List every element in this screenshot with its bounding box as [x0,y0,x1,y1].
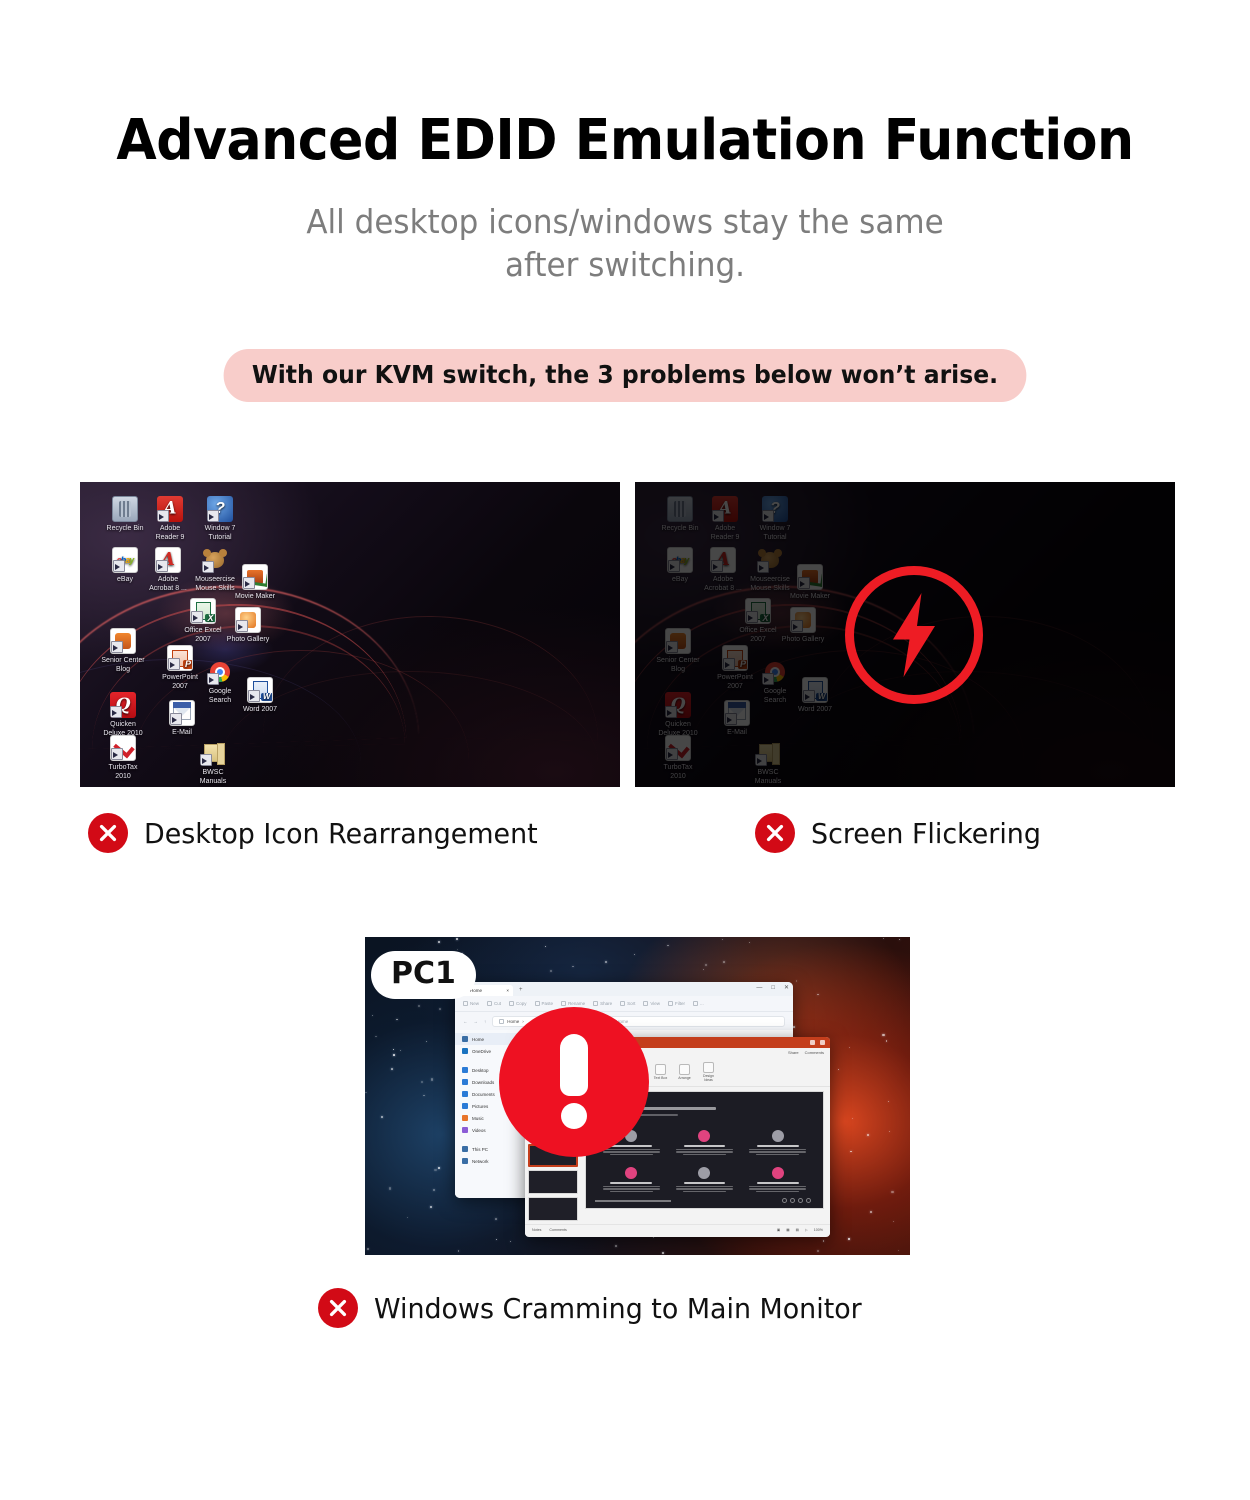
caption-screen-flickering: Screen Flickering [755,813,1050,853]
sidebar-item-label: Network [472,1159,489,1164]
star [550,970,552,972]
up-icon[interactable]: ↑ [484,1019,486,1024]
star [852,1118,853,1119]
banner-container: With our KVM switch, the 3 problems belo… [0,349,1250,402]
page-subtitle-line2: after switching. [38,243,1213,286]
star [796,980,797,981]
toolbar-label: Sort [627,1001,635,1006]
star [899,939,900,940]
slide-thumbnail[interactable] [528,1170,578,1194]
sidebar-item-label: Downloads [472,1080,494,1085]
folder-icon [462,1079,468,1085]
star [615,1245,617,1247]
pc1-badge: PC1 [371,951,476,999]
caption-desktop-icon-rearrangement: Desktop Icon Rearrangement [88,813,554,853]
status-right-group: ▣ ▦ ▤ ▷ 100% [777,1228,823,1232]
caption-label: Screen Flickering [811,817,1041,850]
toolbar-icon [487,1001,492,1006]
desktop-icon-glyph [169,700,195,726]
ribbon-designideas-button[interactable]: Design Ideas [700,1062,717,1082]
desktop-icon-glyph [110,628,136,654]
slide-cell [742,1164,813,1199]
star [572,966,574,968]
star [605,961,607,963]
star [823,1240,824,1241]
star [667,945,668,946]
star [426,1041,427,1042]
star [438,941,440,943]
desktop-icon-label: Word 2007 [225,706,295,715]
star [396,1019,398,1021]
toolbar-icon [620,1001,625,1006]
exclamation-dot [561,1103,587,1129]
star [848,1238,849,1239]
star [438,1167,440,1169]
toolbar--button[interactable]: ... [693,1001,704,1006]
status-notes[interactable]: Notes [532,1228,541,1232]
circle-icon [698,1130,710,1142]
slide-thumbnail[interactable] [528,1197,578,1221]
folder-icon [462,1127,468,1133]
folder-icon [462,1103,468,1109]
star [367,1248,369,1250]
desktop-icon-glyph [200,740,226,766]
sidebar-item-label: Documents [472,1092,495,1097]
exclamation-bar [560,1034,588,1096]
star [393,1049,394,1050]
star [407,1217,408,1218]
desktop-icon-label: BWSCManuals [178,769,248,786]
circle-icon [625,1167,637,1179]
desktop-icon[interactable]: ?Window 7Tutorial [185,496,255,542]
toolbar-icon [693,1001,698,1006]
ribbon-label: Text Box [652,1076,669,1080]
toolbar-label: Share [600,1001,612,1006]
x-circle-icon [755,813,795,853]
ribbon-arrange-button[interactable]: Arrange [676,1064,693,1080]
star [431,1078,433,1080]
star [545,946,546,947]
ribbon-right-group: ShareComments [788,1050,824,1055]
search-icon[interactable] [810,1040,815,1045]
toolbar-label: Filter [675,1001,685,1006]
toolbar-filter-button[interactable]: Filter [668,1001,685,1006]
ribbon-textbox-button[interactable]: Text Box [652,1064,669,1080]
toolbar-view-button[interactable]: View [643,1001,660,1006]
star [850,1151,851,1152]
sidebar-item-label: Desktop [472,1068,489,1073]
toolbar-sort-button[interactable]: Sort [620,1001,635,1006]
star [458,1250,460,1252]
star [434,1169,436,1171]
star [867,1134,869,1136]
page-title: Advanced EDID Emulation Function [44,108,1207,173]
ribbon-icon [679,1064,690,1075]
star [888,1101,889,1102]
star [510,1241,511,1242]
star [886,1040,888,1042]
desktop-icon[interactable]: E-Mail [147,700,217,738]
zoom-level[interactable]: 100% [814,1228,823,1232]
slide-footer-bar [595,1200,671,1202]
toolbar-icon [668,1001,673,1006]
folder-icon [462,1091,468,1097]
slide-icon-grid [595,1127,813,1199]
breadcrumb-label: Home [507,1019,519,1024]
toolbar-icon [643,1001,648,1006]
star [662,1252,664,1254]
explorer-tab-label: Home [470,988,482,993]
desktop-icon-glyph [110,735,136,761]
back-icon[interactable]: ← [463,1019,468,1024]
folder-icon [462,1146,468,1152]
star [838,1069,839,1070]
folder-icon [462,1048,468,1054]
star [423,1095,424,1096]
toolbar-label: View [650,1001,660,1006]
sidebar-item-label: OneDrive [472,1049,491,1054]
close-icon[interactable]: ✕ [784,984,789,991]
page-subtitle-line1: All desktop icons/windows stay the same [38,200,1213,243]
view-normal-icon[interactable]: ▣ [777,1228,780,1232]
promo-banner: With our KVM switch, the 3 problems belo… [224,349,1027,402]
star [433,1189,435,1191]
star [418,1005,420,1007]
forward-icon[interactable]: → [474,1019,479,1024]
desktop-icon-label: Window 7Tutorial [185,525,255,542]
star [457,949,458,950]
circle-icon [772,1167,784,1179]
toolbar-label: Paste [542,1001,554,1006]
toolbar-cut-button[interactable]: Cut [487,1001,501,1006]
star [496,1239,497,1240]
desktop-icon-glyph: A [157,496,183,522]
slide-cell [742,1127,813,1162]
plus-icon[interactable]: + [515,985,527,996]
star [365,1092,367,1094]
star [817,994,818,995]
window-controls [810,1040,825,1045]
slide-cell [669,1164,740,1199]
star [849,1047,850,1048]
star [393,1054,395,1056]
toolbar-paste-button[interactable]: Paste [535,1001,554,1006]
x-circle-icon [88,813,128,853]
star [400,1050,401,1051]
toolbar-label: New [470,1001,479,1006]
star [703,969,704,970]
desktop-icon-label: Photo Gallery [213,636,283,645]
star [882,1034,884,1036]
desktop-icon[interactable]: Word 2007 [225,677,295,715]
desktop-icon-label: TurboTax2010 [88,764,158,781]
star [817,1250,819,1252]
caption-label: Windows Cramming to Main Monitor [374,1292,862,1325]
star [634,954,635,955]
sidebar-item-label: Home [472,1037,484,1042]
desktop-icon-glyph [242,564,268,590]
star [723,961,725,963]
maximize-icon[interactable]: □ [771,985,775,991]
view-reading-icon[interactable]: ▤ [796,1228,799,1232]
exclamation-circle-icon [499,1007,649,1157]
toolbar-icon [509,1001,514,1006]
star [883,938,884,939]
star [372,1015,373,1016]
star [456,938,458,940]
toolbar-icon [463,1001,468,1006]
ribbon-label: Design Ideas [700,1074,717,1082]
star [722,939,723,940]
x-circle-icon [318,1288,358,1328]
view-sorter-icon[interactable]: ▦ [786,1228,789,1232]
folder-icon [462,1036,468,1042]
star [889,1131,890,1132]
toolbar-label: Cut [494,1001,501,1006]
toolbar-copy-button[interactable]: Copy [509,1001,527,1006]
desktop-icon[interactable]: TurboTax2010 [88,735,158,781]
star [705,964,706,965]
star [375,1036,377,1038]
ribbon-icon [703,1062,714,1073]
close-icon[interactable]: × [506,988,509,993]
desktop-icon-glyph [247,677,273,703]
caption-label: Desktop Icon Rearrangement [144,817,538,850]
star [421,1081,423,1083]
toolbar-rename-button[interactable]: Rename [561,1001,585,1006]
star [749,942,750,943]
folder-icon [462,1158,468,1164]
page-root: Advanced EDID Emulation Function All des… [0,0,1250,1500]
toolbar-icon [561,1001,566,1006]
desktop-icon-glyph [235,607,261,633]
slideshow-icon[interactable]: ▷ [805,1228,808,1232]
status-comments[interactable]: Comments [549,1228,566,1232]
lightning-bolt-icon [845,566,983,704]
ribbon-label: Arrange [676,1076,693,1080]
home-icon [499,1019,504,1024]
desktop-icon-grid: Recycle BinAAdobeReader 9?Window 7Tutori… [80,482,620,787]
explorer-toolbar: NewCutCopyPasteRenameShareSortViewFilter… [455,996,793,1012]
star [430,1206,432,1208]
star [439,1008,441,1010]
page-subtitle: All desktop icons/windows stay the same … [38,200,1213,286]
powerpoint-status-bar: Notes Comments ▣ ▦ ▤ ▷ 100% [525,1224,830,1235]
explorer-tab-bar: Home × + — □ ✕ [455,982,793,996]
slide-cell [595,1164,666,1199]
desktop-icon[interactable]: Movie Maker [220,564,290,602]
star [893,1221,894,1222]
minimize-icon[interactable]: — [756,985,762,991]
star [389,1187,391,1189]
sidebar-item-label: This PC [472,1147,488,1152]
desktop-screenshot-flickering: Recycle BinAAdobeReader 9?Window 7Tutori… [635,482,1175,787]
toolbar-label: Rename [568,1001,585,1006]
circle-icon [772,1130,784,1142]
pc1-screenshot: PC1 Home × + — □ ✕ NewCutCopyPasteRename… [365,937,910,1255]
comments-button[interactable]: Comments [805,1050,824,1055]
sidebar-item-label: Pictures [472,1104,488,1109]
star [495,1218,497,1220]
toolbar-icon [593,1001,598,1006]
desktop-icon[interactable]: BWSCManuals [178,740,248,786]
toolbar-label: ... [700,1001,704,1006]
toolbar-icon [535,1001,540,1006]
toolbar-new-button[interactable]: New [463,1001,479,1006]
circle-icon [698,1167,710,1179]
toolbar-share-button[interactable]: Share [593,1001,612,1006]
slide-social-icons [782,1198,811,1203]
star [891,1191,893,1193]
star [793,1026,795,1028]
sidebar-item-label: Videos [472,1128,486,1133]
share-button[interactable]: Share [788,1050,799,1055]
caption-windows-cramming: Windows Cramming to Main Monitor [318,1288,882,1328]
folder-icon [462,1067,468,1073]
toolbar-label: Copy [516,1001,527,1006]
close-icon[interactable] [820,1040,825,1045]
sidebar-item-label: Music [472,1116,484,1121]
folder-icon [462,1115,468,1121]
desktop-icon[interactable]: Photo Gallery [213,607,283,645]
star [391,1068,393,1070]
star [653,1237,654,1238]
slide-cell [669,1127,740,1162]
star [381,1116,383,1118]
ribbon-icon [655,1064,666,1075]
desktop-icon-glyph: A [155,547,181,573]
star [870,1211,872,1213]
chevron-right-icon: › [522,1019,524,1024]
desktop-icon-glyph: ? [207,496,233,522]
star [898,1250,899,1251]
desktop-icon-glyph: Q [110,692,136,718]
window-controls: — □ ✕ [756,984,789,991]
desktop-screenshot-normal: Recycle BinAAdobeReader 9?Window 7Tutori… [80,482,620,787]
